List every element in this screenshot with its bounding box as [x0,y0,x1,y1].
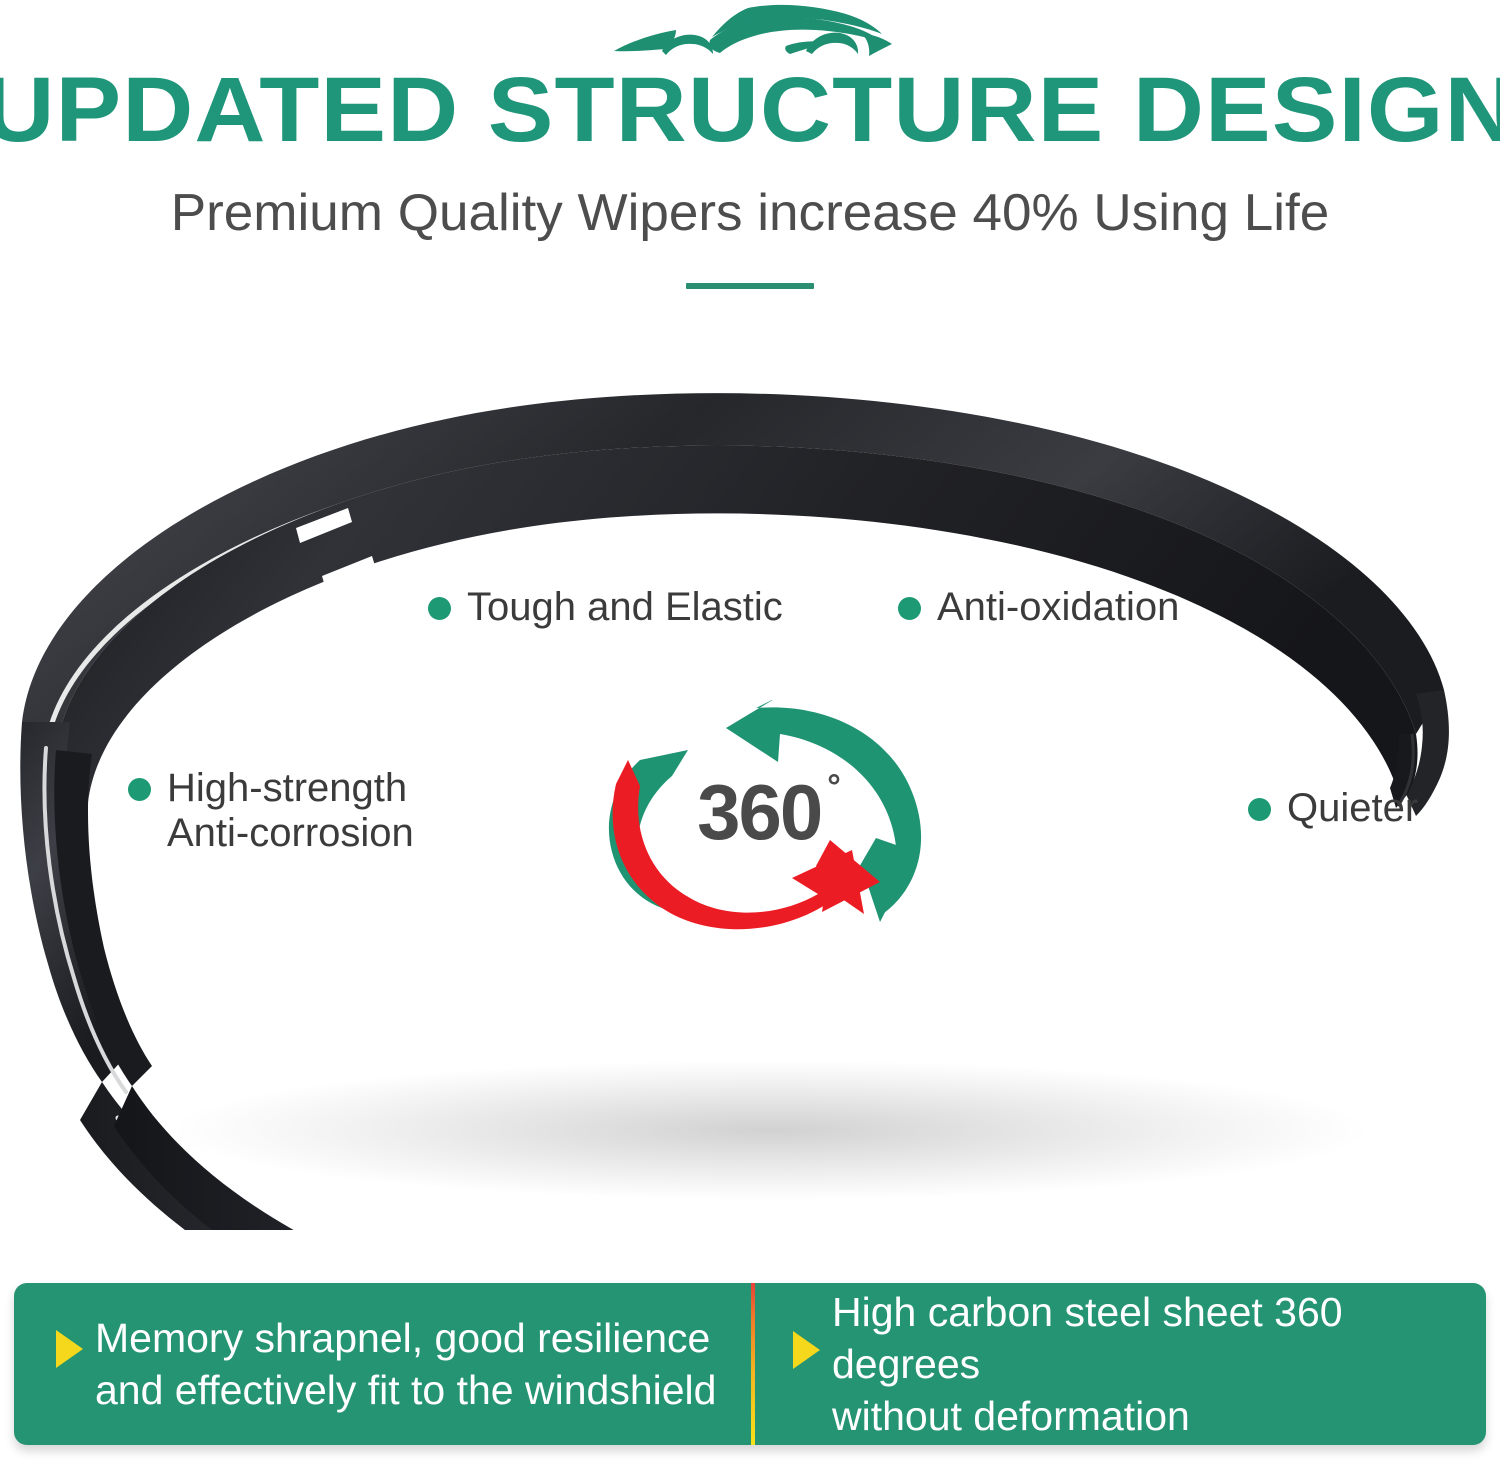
page-title: UPDATED STRUCTURE DESIGN [0,62,1500,158]
bullet-dot-icon [128,778,151,801]
title-divider-rule [686,283,814,289]
bullet-dot-icon [898,597,921,620]
feature-tough-and-elastic: Tough and Elastic [428,585,783,630]
feature-high-strength-anti-corrosion: High-strength Anti-corrosion [128,766,414,856]
page-subtitle: Premium Quality Wipers increase 40% Usin… [0,182,1500,244]
feature-label: Quieter [1287,786,1418,831]
banner-item-memory-shrapnel: Memory shrapnel, good resilience and eff… [14,1283,749,1445]
rotation-arrows-icon [580,700,960,935]
triangle-bullet-icon [56,1330,83,1368]
bullet-dot-icon [1248,798,1271,821]
banner-item-high-carbon-steel: High carbon steel sheet 360 degrees with… [749,1283,1486,1445]
infographic-page: UPDATED STRUCTURE DESIGN Premium Quality… [0,0,1500,1475]
feature-banner: Memory shrapnel, good resilience and eff… [14,1283,1486,1445]
feature-label: High-strength [167,766,407,810]
bullet-dot-icon [428,597,451,620]
car-silhouette-icon [600,4,900,66]
feature-label: Anti-oxidation [937,585,1179,630]
feature-anti-oxidation: Anti-oxidation [898,585,1179,630]
feature-label: Tough and Elastic [467,585,783,630]
banner-item-text: Memory shrapnel, good resilience and eff… [95,1312,716,1416]
badge-360-degrees: 360 ° [580,700,960,935]
feature-label-line2: Anti-corrosion [167,811,414,856]
product-shadow [170,1060,1370,1200]
brand-logo [0,4,1500,66]
banner-item-text: High carbon steel sheet 360 degrees with… [832,1286,1486,1442]
triangle-bullet-icon [793,1331,820,1369]
feature-quieter: Quieter [1248,786,1418,831]
